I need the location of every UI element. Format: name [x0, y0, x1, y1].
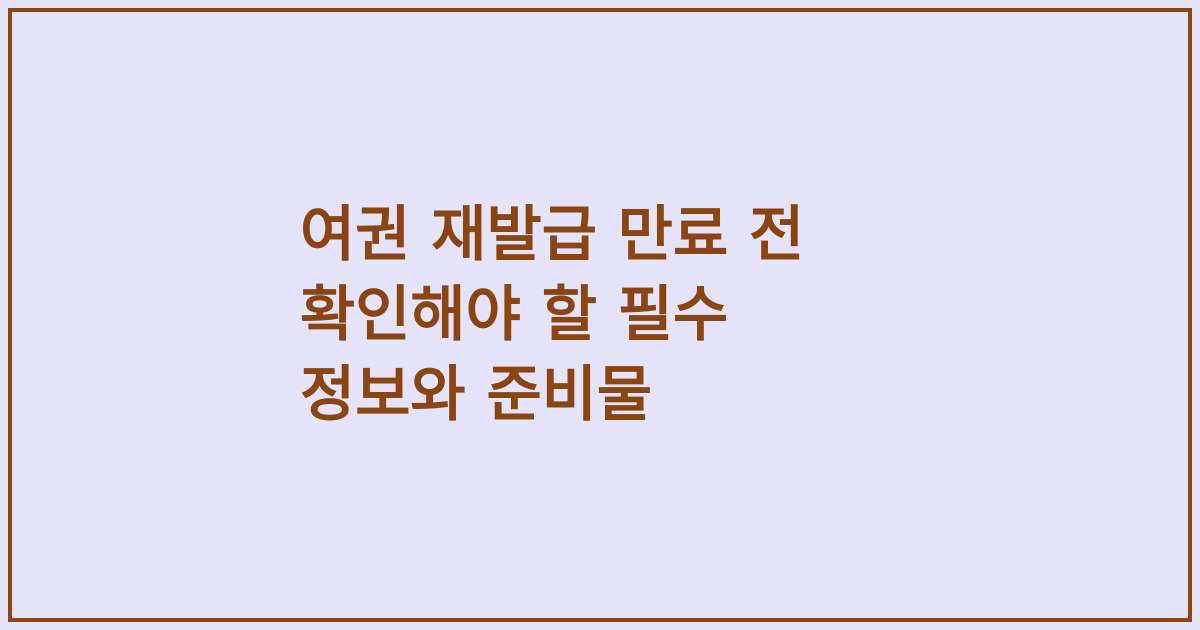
title-line-3: 정보와 준비물: [300, 355, 1104, 435]
page-title: 여권 재발급 만료 전 확인해야 할 필수 정보와 준비물: [300, 195, 1104, 435]
title-line-1: 여권 재발급 만료 전: [300, 195, 1104, 275]
thumbnail-canvas: 여권 재발급 만료 전 확인해야 할 필수 정보와 준비물: [0, 0, 1200, 630]
title-content-area: 여권 재발급 만료 전 확인해야 할 필수 정보와 준비물: [0, 0, 1200, 630]
title-line-2: 확인해야 할 필수: [300, 275, 1104, 355]
